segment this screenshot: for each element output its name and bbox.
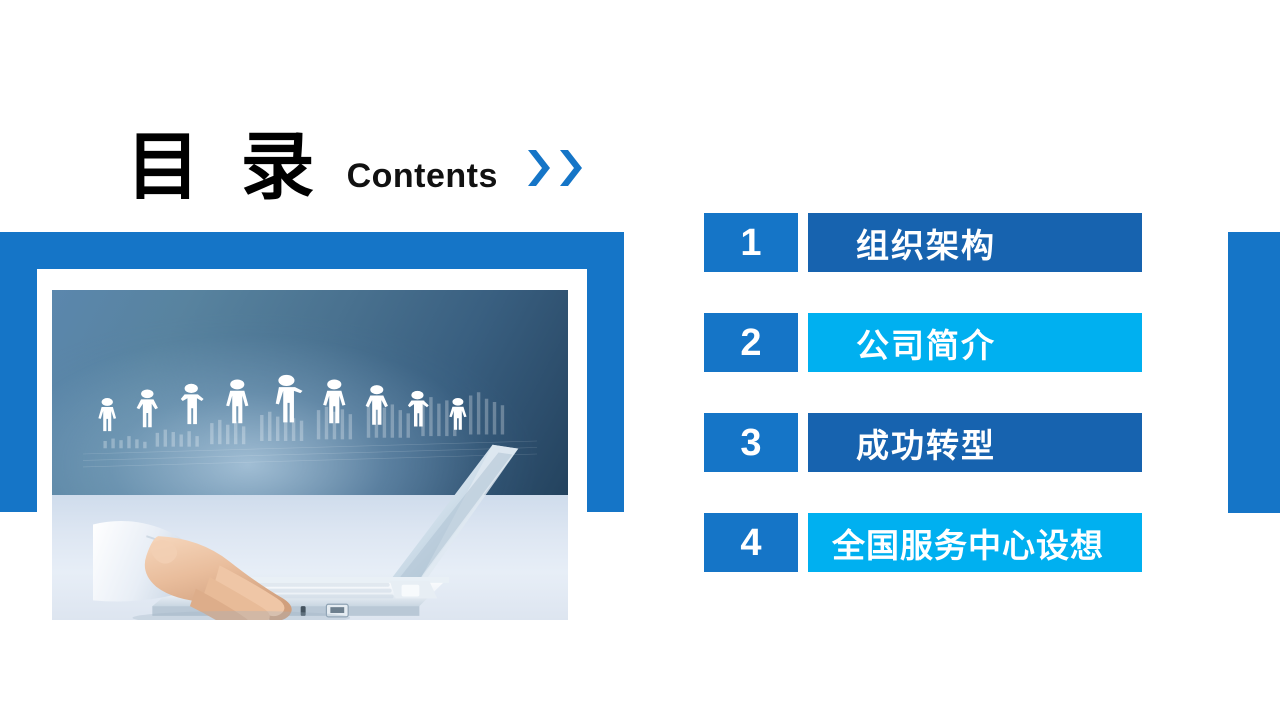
menu-item-4-label: 全国服务中心设想	[808, 513, 1142, 572]
slide-photo	[52, 290, 568, 620]
menu-item-4-number: 4	[704, 513, 798, 572]
menu-item-2-number: 2	[704, 313, 798, 372]
presentation-slide: 目 录 Contents	[0, 0, 1280, 720]
chevron-right-icon-2	[558, 148, 584, 188]
slide-title-group: 目 录 Contents	[126, 108, 666, 204]
right-edge-decoration-bar	[1228, 232, 1280, 513]
page-title-english: Contents	[347, 157, 498, 196]
menu-item-4[interactable]: 4 全国服务中心设想	[704, 513, 1142, 572]
contents-menu-list: 1 组织架构 2 公司简介 3 成功转型 4 全国服务中心设想	[704, 213, 1142, 572]
menu-item-1[interactable]: 1 组织架构	[704, 213, 1142, 272]
menu-item-1-label: 组织架构	[808, 213, 1142, 272]
menu-item-1-number: 1	[704, 213, 798, 272]
menu-item-3-number: 3	[704, 413, 798, 472]
menu-item-2-label: 公司简介	[808, 313, 1142, 372]
menu-item-3[interactable]: 3 成功转型	[704, 413, 1142, 472]
chevron-right-icon-1	[526, 148, 552, 188]
page-title-chinese: 目 录	[126, 130, 325, 204]
menu-item-3-label: 成功转型	[808, 413, 1142, 472]
double-chevron-right-icon	[526, 148, 584, 188]
menu-item-2[interactable]: 2 公司简介	[704, 313, 1142, 372]
laptop-and-hands-illustration	[93, 435, 568, 620]
